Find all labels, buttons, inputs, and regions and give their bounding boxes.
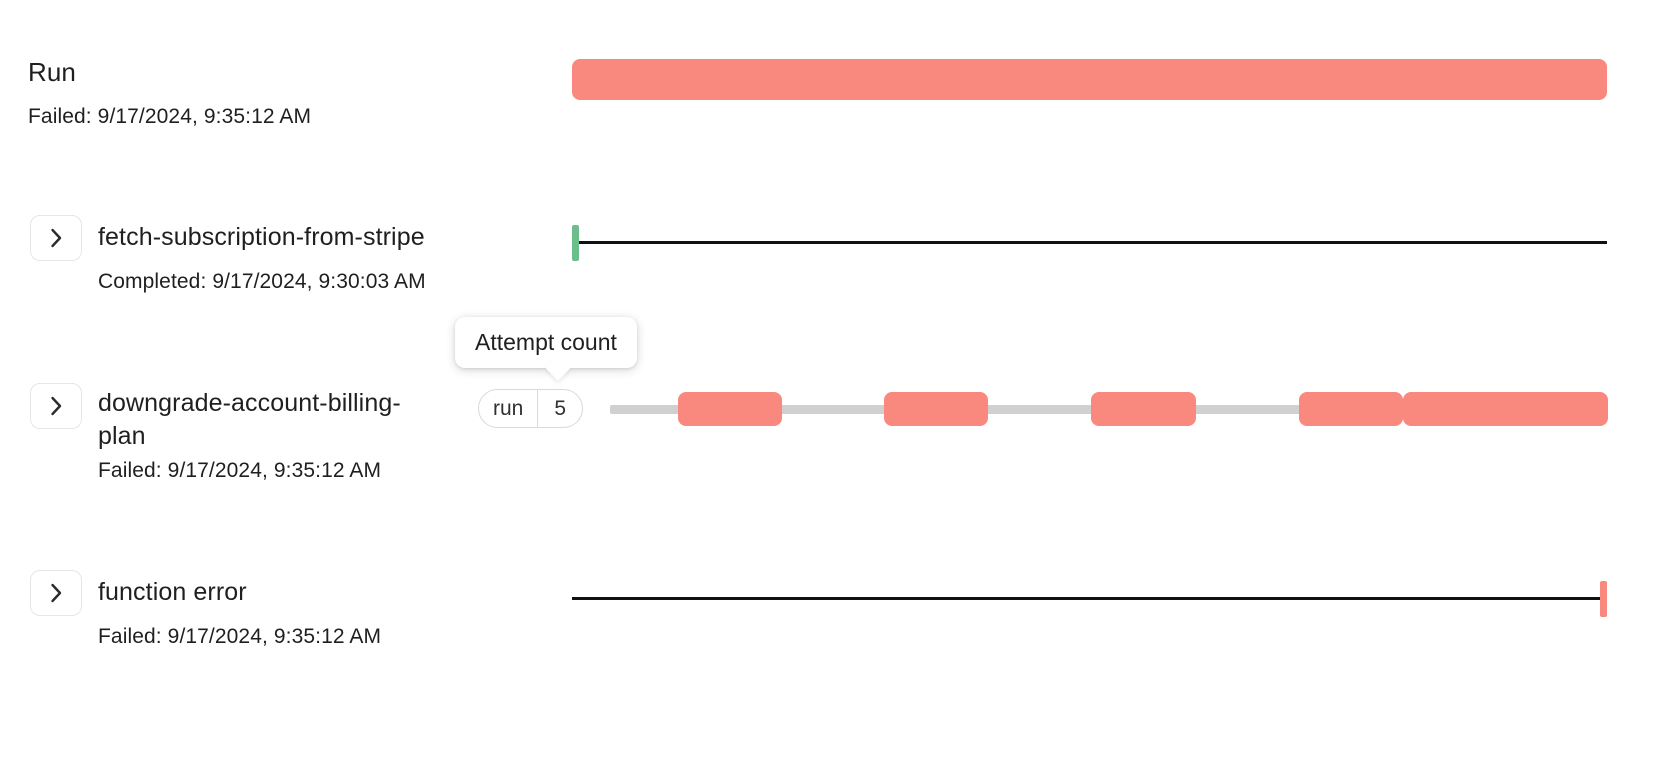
- row-title: downgrade-account-billing-plan: [98, 387, 448, 453]
- row-title: function error: [98, 576, 247, 609]
- chevron-right-icon: [50, 396, 63, 416]
- row-headline: function error: [30, 570, 381, 616]
- timeline-row-function-error: function error Failed: 9/17/2024, 9:35:1…: [0, 570, 1666, 670]
- attempt-badge-value: 5: [537, 390, 582, 427]
- row-label-area: Run Failed: 9/17/2024, 9:35:12 AM: [28, 55, 311, 131]
- row-headline: Run: [28, 55, 311, 89]
- step-failed-marker[interactable]: [1600, 581, 1607, 617]
- row-status-text: Completed: 9/17/2024, 9:30:03 AM: [98, 268, 426, 296]
- run-duration-bar[interactable]: [572, 59, 1607, 100]
- run-timeline: Run Failed: 9/17/2024, 9:35:12 AM fetch-…: [0, 0, 1666, 768]
- row-headline: fetch-subscription-from-stripe: [30, 215, 426, 261]
- expand-row-button[interactable]: [30, 383, 82, 429]
- attempt-count-badge[interactable]: run 5: [478, 389, 583, 428]
- attempt-segment[interactable]: [1403, 392, 1608, 426]
- timeline-row-downgrade-account-billing-plan: downgrade-account-billing-plan Failed: 9…: [0, 383, 1666, 508]
- timeline-row-fetch-subscription-from-stripe: fetch-subscription-from-stripe Completed…: [0, 215, 1666, 310]
- chevron-right-icon: [50, 583, 63, 603]
- row-status-text: Failed: 9/17/2024, 9:35:12 AM: [98, 623, 381, 651]
- row-status-text: Failed: 9/17/2024, 9:35:12 AM: [98, 457, 448, 485]
- chevron-right-icon: [50, 228, 63, 248]
- expand-row-button[interactable]: [30, 570, 82, 616]
- row-status-text: Failed: 9/17/2024, 9:35:12 AM: [28, 103, 311, 131]
- row-label-area: function error Failed: 9/17/2024, 9:35:1…: [30, 570, 381, 651]
- timeline-row-run: Run Failed: 9/17/2024, 9:35:12 AM: [0, 55, 1666, 150]
- row-title: Run: [28, 55, 76, 89]
- row-headline: downgrade-account-billing-plan: [30, 383, 448, 453]
- attempt-count-tooltip: Attempt count: [455, 317, 637, 368]
- expand-row-button[interactable]: [30, 215, 82, 261]
- row-label-area: downgrade-account-billing-plan Failed: 9…: [30, 383, 448, 485]
- attempt-segment[interactable]: [884, 392, 988, 426]
- step-completed-marker[interactable]: [572, 225, 579, 261]
- row-title: fetch-subscription-from-stripe: [98, 221, 425, 254]
- attempt-segment[interactable]: [678, 392, 782, 426]
- attempt-segment[interactable]: [1091, 392, 1196, 426]
- row-label-area: fetch-subscription-from-stripe Completed…: [30, 215, 426, 296]
- step-timeline-line: [575, 241, 1607, 244]
- attempt-segment[interactable]: [1299, 392, 1403, 426]
- attempt-badge-key: run: [479, 390, 537, 427]
- step-timeline-line: [572, 597, 1607, 600]
